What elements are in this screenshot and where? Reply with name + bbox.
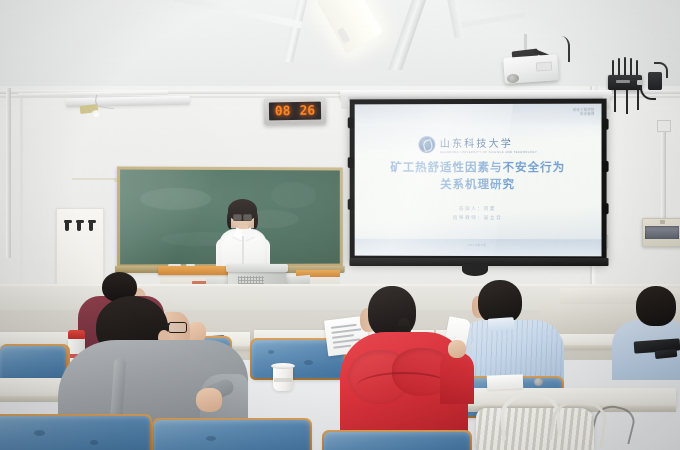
antenna-down-icon: [637, 90, 639, 110]
university-logo-text: 山东科技大学 SHANDONG UNIVERSITY OF SCIENCE AN…: [440, 135, 537, 154]
device-label: [616, 80, 630, 83]
thermos-cap: [68, 330, 85, 339]
paper-cup-band: [274, 378, 292, 382]
chalk-smudge: [140, 188, 211, 210]
antenna-down-icon: [614, 90, 616, 112]
projection-screen-housing: [340, 90, 612, 99]
chair-back-foreground: [324, 432, 470, 450]
antenna-down-icon: [626, 90, 628, 114]
projector-vent: [536, 61, 553, 71]
paper-on-desk: [487, 374, 523, 389]
audience-red-hoodie-hand: [448, 340, 466, 358]
hoodie-seam: [356, 372, 452, 402]
audience-gray-shirt-hand: [196, 388, 222, 412]
small-round-object: [534, 378, 543, 386]
projection-screen: 安全工程学院 安全管理 山东科技大学 SHANDONG UNIVERSITY O…: [350, 99, 607, 263]
chalk-smudge: [271, 182, 316, 208]
screen-bracket-left: [341, 96, 348, 109]
screen-tab: [348, 157, 355, 168]
slide-title: 矿工热舒适性因素与不安全行为 关系机理研究: [355, 160, 602, 194]
university-emblem-icon: [418, 136, 435, 153]
clock-display: 08 26: [269, 102, 321, 121]
audience-red-hoodie-arm: [440, 352, 474, 404]
electrical-panel-knob: [660, 220, 665, 224]
screen-tab: [602, 203, 609, 214]
slide-footer-date: 2019年5月: [355, 243, 602, 248]
paper-text-line: [332, 334, 354, 338]
teacher-desk-top: [158, 266, 234, 275]
chair-speck: [268, 350, 274, 354]
paper-cup-rim: [271, 363, 295, 369]
screen-tab: [348, 117, 355, 128]
chair-speck: [90, 440, 98, 445]
clock-minutes: 26: [299, 104, 315, 117]
digital-clock: 08 26: [264, 97, 326, 124]
device-port: [637, 80, 643, 85]
university-name-en: SHANDONG UNIVERSITY OF SCIENCE AND TECHN…: [440, 151, 537, 154]
paper-text-line: [331, 324, 357, 329]
lamp-bulb-icon: [91, 110, 102, 119]
coat-hook-icon: [65, 222, 69, 231]
electrical-panel-window: [645, 226, 679, 239]
wall-corner-edge: [20, 92, 23, 292]
slide-presenter-label: 答辩人：刘夏: [355, 204, 602, 213]
slide-meta: 答辩人：刘夏 指导教师：吴立云: [355, 204, 602, 222]
screen-tab: [602, 119, 609, 130]
audience-blue-shirt-collar: [488, 317, 515, 331]
chair-back-foreground: [0, 416, 150, 450]
slide-content: 安全工程学院 安全管理 山东科技大学 SHANDONG UNIVERSITY O…: [355, 104, 602, 257]
slide-title-line1: 矿工热舒适性因素与不安全行为: [355, 160, 602, 177]
coat-hook-icon: [77, 222, 81, 231]
chair-back-foreground: [154, 420, 310, 450]
slide-top-band: [355, 104, 602, 127]
antenna-icon: [618, 58, 620, 76]
hair-tie: [394, 326, 409, 331]
screen-tab: [348, 199, 355, 210]
wall-pipe: [6, 88, 11, 258]
chair-speck: [34, 430, 45, 436]
screen-pull-handle: [462, 264, 488, 276]
chair-back: [0, 346, 66, 382]
clock-hours: 08: [275, 105, 291, 118]
classroom-photo: 安全工程学院 安全管理 山东科技大学 SHANDONG UNIVERSITY O…: [0, 0, 680, 450]
chair-speck: [304, 360, 313, 365]
slide-title-line2: 关系机理研究: [355, 177, 602, 194]
university-logo: 山东科技大学 SHANDONG UNIVERSITY OF SCIENCE AN…: [418, 135, 537, 154]
power-cable-upper: [654, 62, 668, 78]
podium-top: [226, 264, 288, 272]
slide-footer-band: [355, 239, 602, 257]
antenna-icon: [630, 58, 632, 76]
screen-tab: [602, 161, 609, 172]
paper-text-line: [331, 328, 361, 333]
audience-blue-shirt-man-right-head: [636, 286, 676, 326]
antenna-icon: [612, 60, 614, 76]
presenter-glasses-icon: [233, 214, 252, 219]
glasses-icon: [168, 322, 194, 331]
university-name-cn: 山东科技大学: [440, 135, 537, 150]
chair-speck: [206, 436, 216, 441]
paper-text-line: [333, 345, 351, 349]
wall-junction-box: [657, 120, 671, 132]
coat-hook-icon: [89, 222, 93, 231]
antenna-icon: [636, 60, 638, 76]
antenna-icon: [624, 57, 626, 76]
slide-corner-line2: 安全管理: [573, 112, 595, 116]
slide-corner-text: 安全工程学院 安全管理: [573, 108, 595, 117]
slide-advisor-label: 指导教师：吴立云: [355, 213, 602, 222]
